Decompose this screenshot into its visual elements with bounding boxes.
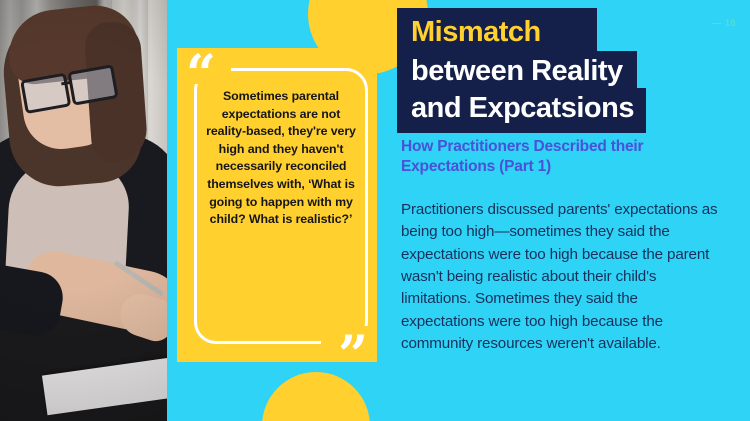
quote-card: “ Sometimes parental expectations are no… (177, 48, 377, 362)
section-subtitle: How Practitioners Described their Expect… (401, 137, 726, 177)
quote-text: Sometimes parental expectations are not … (201, 88, 361, 229)
body-paragraph: Practitioners discussed parents' expecta… (401, 199, 721, 355)
close-quote-icon: ” (338, 330, 368, 382)
title-line-3: and Expcatsions (397, 88, 646, 133)
slide-canvas: “ Sometimes parental expectations are no… (0, 0, 750, 421)
title-line-1: Mismatch (397, 8, 597, 51)
title-line-2: between Reality (397, 51, 637, 88)
photo-vignette (0, 0, 167, 421)
photo-woman-writing (0, 0, 167, 421)
slide-title: Mismatch between Reality and Expcatsions (397, 8, 646, 133)
page-number: — 10 (712, 18, 736, 28)
